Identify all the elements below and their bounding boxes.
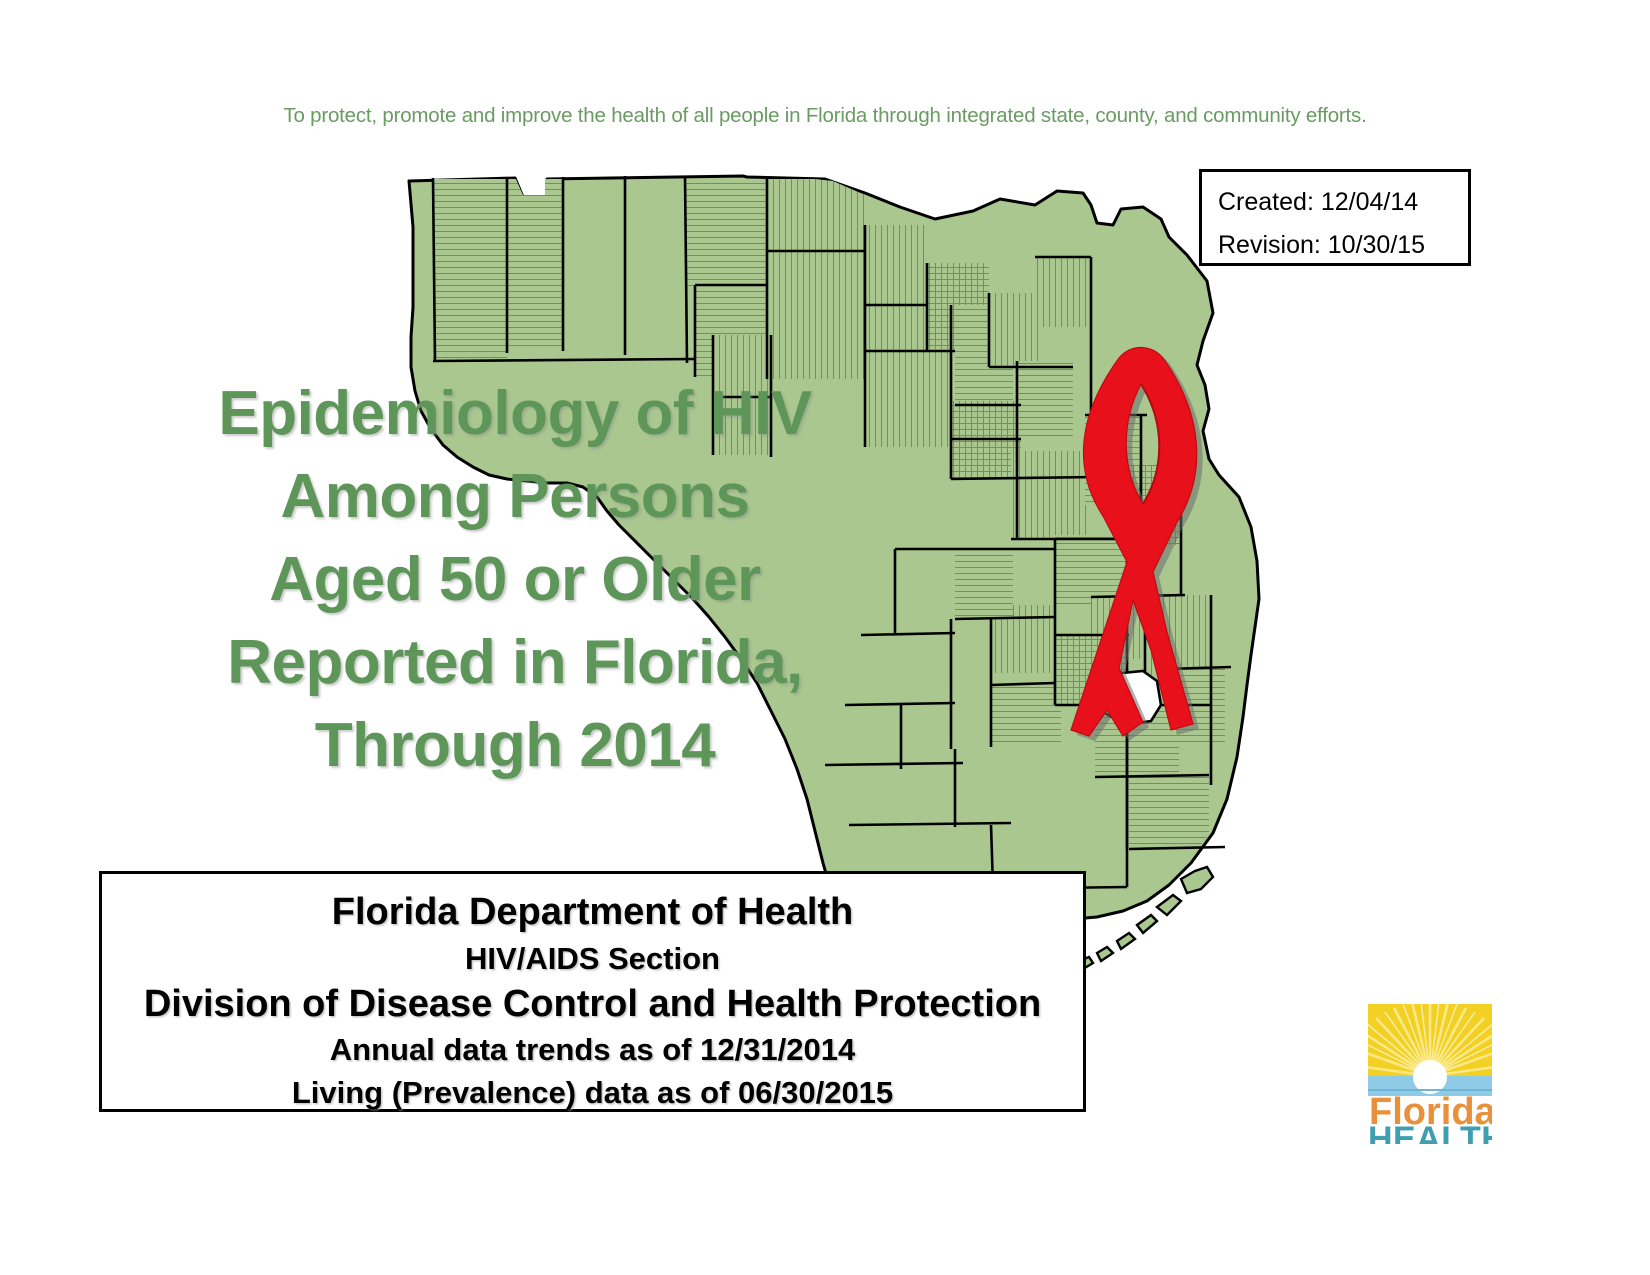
prevalence-data-note: Living (Prevalence) data as of 06/30/201…: [102, 1071, 1083, 1114]
title-line-5: Through 2014: [150, 704, 880, 787]
florida-health-logo: Florida HEALTH: [1368, 1004, 1492, 1144]
title-line-2: Among Persons: [150, 455, 880, 538]
org-name: Florida Department of Health: [102, 888, 1083, 937]
title-line-3: Aged 50 or Older: [150, 538, 880, 621]
title-line-1: Epidemiology of HIV: [150, 372, 880, 455]
page-title: Epidemiology of HIV Among Persons Aged 5…: [150, 372, 880, 787]
logo-word-health: HEALTH: [1368, 1120, 1492, 1144]
annual-data-note: Annual data trends as of 12/31/2014: [102, 1028, 1083, 1071]
section-name: HIV/AIDS Section: [102, 937, 1083, 980]
agency-tagline: To protect, promote and improve the heal…: [0, 104, 1650, 128]
division-name: Division of Disease Control and Health P…: [102, 980, 1083, 1028]
title-line-4: Reported in Florida,: [150, 621, 880, 704]
publisher-info-box: Florida Department of Health HIV/AIDS Se…: [99, 871, 1086, 1112]
